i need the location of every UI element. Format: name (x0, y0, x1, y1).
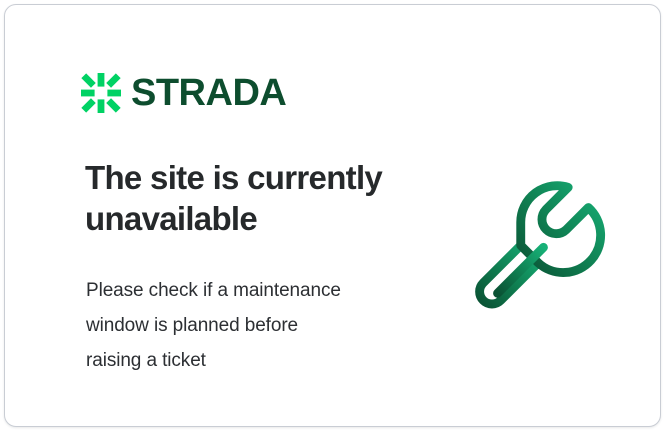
page-title: The site is currently unavailable (85, 157, 415, 239)
strada-asterisk-icon (81, 73, 121, 113)
brand-lockup: STRADA (81, 73, 286, 113)
wrench-icon (461, 157, 619, 315)
brand-wordmark: STRADA (131, 73, 286, 113)
status-card: STRADA The site is currently unavailable… (4, 4, 661, 427)
page-description: Please check if a maintenance window is … (86, 273, 396, 378)
description-line: window is planned before (86, 308, 396, 343)
description-line: raising a ticket (86, 343, 396, 378)
error-page: STRADA The site is currently unavailable… (0, 0, 666, 436)
description-line: Please check if a maintenance (86, 273, 396, 308)
